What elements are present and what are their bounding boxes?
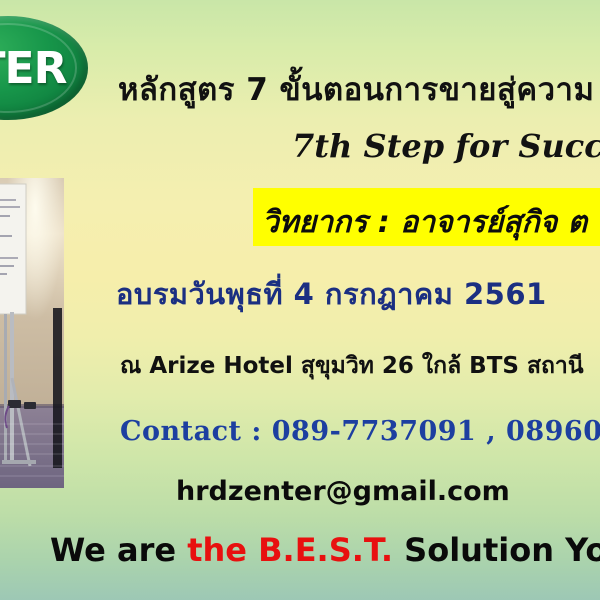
course-title-thai: หลักสูตร 7 ขั้นตอนการขายสู่ความ [118, 64, 594, 114]
course-title-english: 7th Step for Succes [292, 127, 600, 165]
contact-phone-line[interactable]: Contact : 089-7737091 , 089606044 [120, 416, 600, 447]
tagline-after: Solution You [393, 531, 600, 569]
company-tagline: We are the B.E.S.T. Solution You [50, 531, 600, 569]
poster-text-content: หลักสูตร 7 ขั้นตอนการขายสู่ความ 7th Step… [0, 0, 600, 600]
venue-line: ณ Arize Hotel สุขุมวิท 26 ใกล้ BTS สถานี [120, 348, 584, 384]
tagline-accent: the B.E.S.T. [187, 531, 393, 569]
contact-email[interactable]: hrdzenter@gmail.com [176, 476, 510, 507]
speaker-line: วิทยากร : อาจารย์สุกิจ ต [262, 199, 587, 246]
promotional-poster: TER [0, 0, 600, 600]
event-date-line: อบรมวันพุธที่ 4 กรกฎาคม 2561 [116, 271, 547, 317]
tagline-before: We are [50, 531, 187, 569]
